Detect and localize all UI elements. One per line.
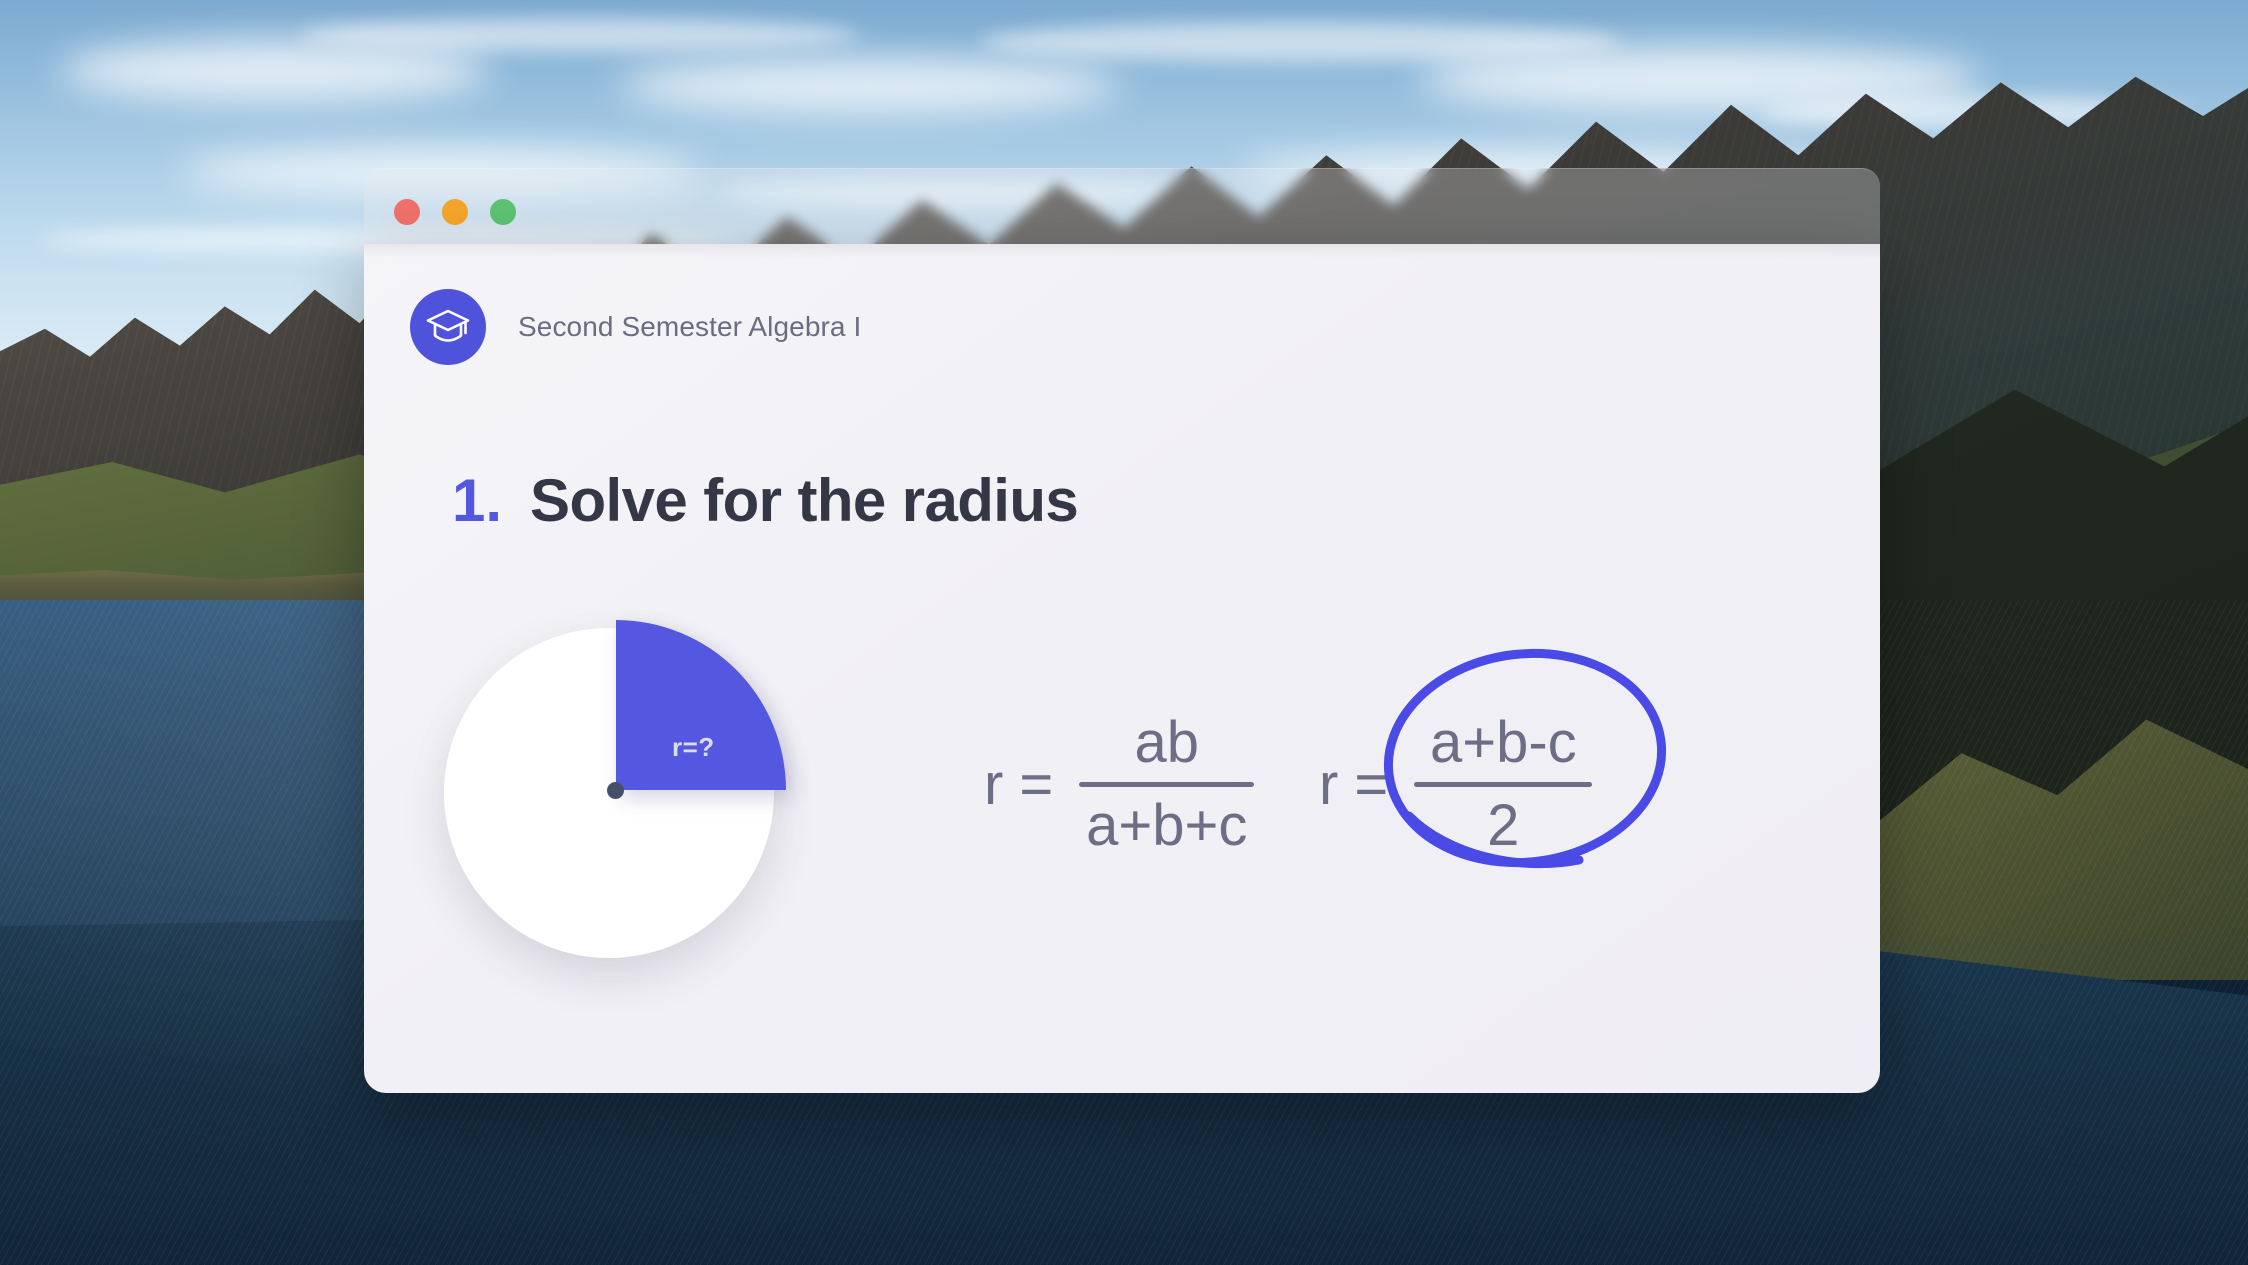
formula-correct: r = a+b-c 2: [1319, 714, 1592, 855]
pie-center-dot: [607, 782, 624, 799]
course-name: Second Semester Algebra I: [518, 311, 861, 343]
fraction-numerator: a+b-c: [1424, 714, 1583, 772]
traffic-light-buttons: [394, 199, 516, 225]
formula-lhs: r =: [1319, 756, 1388, 814]
graduation-cap-glyph: [425, 306, 471, 348]
fraction-denominator: 2: [1481, 797, 1525, 855]
app-header: Second Semester Algebra I: [410, 289, 861, 365]
question-heading: 1. Solve for the radius: [452, 466, 1078, 535]
close-button[interactable]: [394, 199, 420, 225]
desktop-wallpaper: Second Semester Algebra I 1. Solve for t…: [0, 0, 2248, 1265]
fraction-denominator: a+b+c: [1080, 797, 1253, 855]
fraction-bar: [1414, 782, 1592, 787]
zoom-button[interactable]: [490, 199, 516, 225]
pie-chart: r=?: [424, 584, 844, 1004]
window-titlebar[interactable]: [364, 168, 1880, 248]
formula-lhs: r =: [984, 756, 1053, 814]
app-window: Second Semester Algebra I 1. Solve for t…: [364, 168, 1880, 1093]
cloud: [60, 40, 490, 102]
pie-wedge-label: r=?: [672, 732, 715, 763]
cloud: [300, 18, 860, 52]
pie-wedge-unknown[interactable]: [616, 620, 786, 790]
cloud: [620, 58, 1120, 114]
fraction-numerator: ab: [1129, 714, 1206, 772]
question-title: Solve for the radius: [530, 466, 1078, 535]
question-number: 1.: [452, 466, 502, 535]
fraction: ab a+b+c: [1079, 714, 1254, 855]
fraction-bar: [1079, 782, 1254, 787]
answer-row: r=? r = ab a+b+c r = a+b-c: [364, 604, 1880, 1024]
formula-incorrect: r = ab a+b+c: [984, 714, 1254, 855]
fraction: a+b-c 2: [1414, 714, 1592, 855]
minimize-button[interactable]: [442, 199, 468, 225]
lesson-panel: Second Semester Algebra I 1. Solve for t…: [364, 244, 1880, 1093]
graduation-cap-icon[interactable]: [410, 289, 486, 365]
